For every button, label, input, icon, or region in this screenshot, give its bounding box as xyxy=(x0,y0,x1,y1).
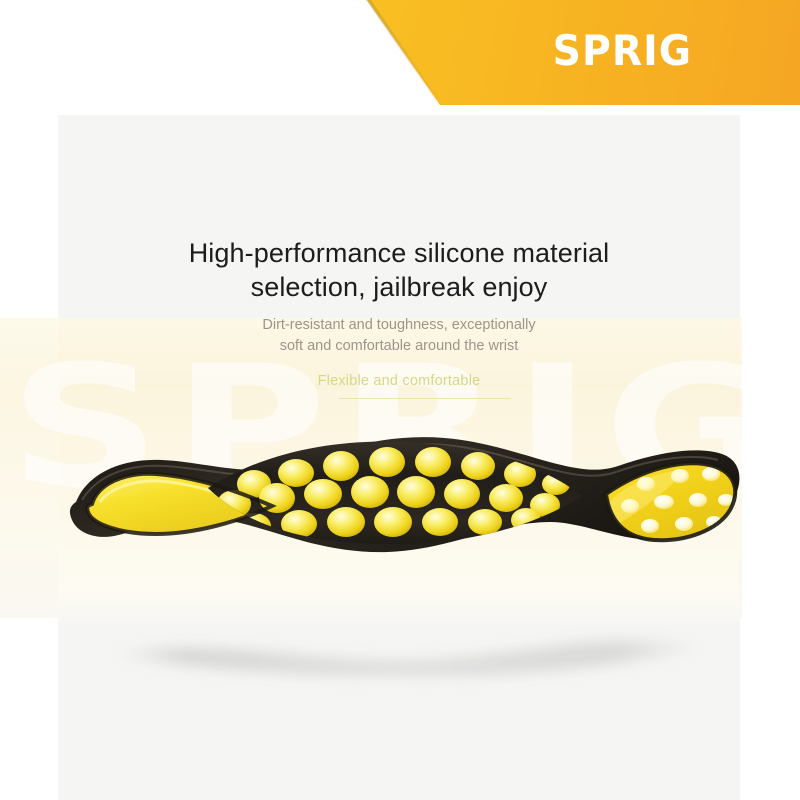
subheadline-line-2: soft and comfortable around the wrist xyxy=(58,336,740,357)
header-banner: SPRIG xyxy=(0,0,800,110)
subheadline: Dirt-resistant and toughness, exceptiona… xyxy=(58,315,740,357)
subheadline-line-1: Dirt-resistant and toughness, exceptiona… xyxy=(58,315,740,336)
strap-mid-dotted-face xyxy=(198,430,598,560)
brand-logo: SPRIG xyxy=(553,26,692,75)
product-image xyxy=(58,410,740,640)
tagline-underline xyxy=(339,398,511,399)
content-panel: SPRIG High-performance silicone material… xyxy=(58,115,740,800)
headline-line-1: High-performance silicone material xyxy=(58,236,740,270)
headline: High-performance silicone material selec… xyxy=(58,236,740,304)
product-marketing-banner: SPRIG SPRIG High-performance silicone ma… xyxy=(0,0,800,800)
tagline: Flexible and comfortable xyxy=(58,373,740,389)
headline-line-2: selection, jailbreak enjoy xyxy=(58,270,740,304)
